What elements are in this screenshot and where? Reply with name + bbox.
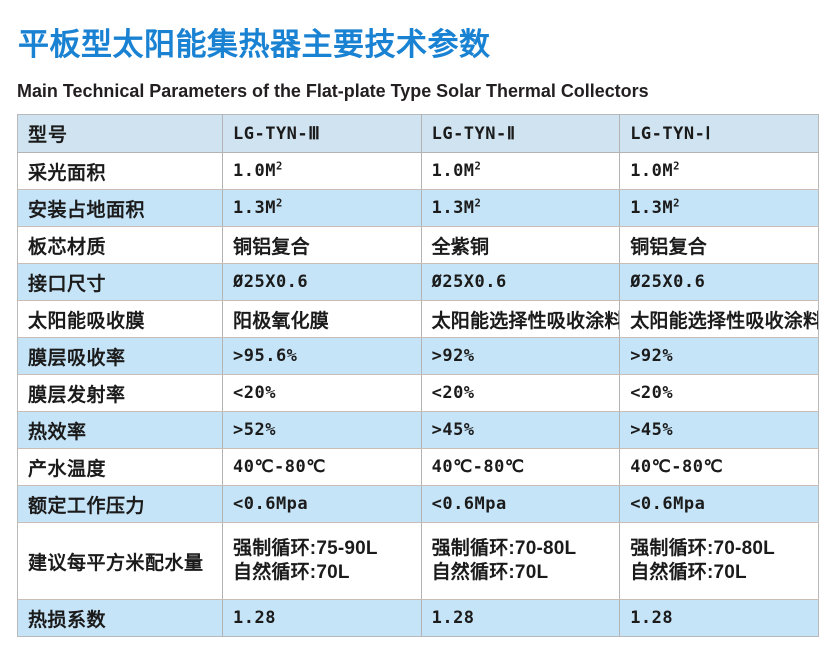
spec-table-container: 型号 LG-TYN-Ⅲ LG-TYN-Ⅱ LG-TYN-Ⅰ 采光面积 1.0M2… (17, 114, 818, 637)
superscript-unit: 2 (673, 197, 680, 209)
cell-value: 1.0M2 (620, 153, 819, 190)
cell-value: 40℃-80℃ (223, 449, 422, 486)
row-label: 安装占地面积 (18, 190, 223, 227)
cell-value: >45% (620, 412, 819, 449)
cell-text-line-2: 自然循环:70L (630, 561, 808, 585)
table-row: 接口尺寸 Ø25X0.6 Ø25X0.6 Ø25X0.6 (18, 264, 819, 301)
cell-value: 强制循环:70-80L 自然循环:70L (421, 523, 620, 600)
cell-value: <20% (421, 375, 620, 412)
cell-value: 40℃-80℃ (421, 449, 620, 486)
cell-value: 强制循环:75-90L 自然循环:70L (223, 523, 422, 600)
cell-text-line-2: 自然循环:70L (432, 561, 610, 585)
cell-value: >45% (421, 412, 620, 449)
cell-value: <20% (620, 375, 819, 412)
cell-value: Ø25X0.6 (223, 264, 422, 301)
cell-text: 1.3M (233, 198, 276, 218)
table-row: 太阳能吸收膜 阳极氧化膜 太阳能选择性吸收涂料 太阳能选择性吸收涂料 (18, 301, 819, 338)
header-cell-model-1: LG-TYN-Ⅰ (620, 115, 819, 153)
cell-text: 1.3M (432, 198, 475, 218)
cell-value: 铜铝复合 (223, 227, 422, 264)
cell-text-line-1: 强制循环:70-80L (630, 537, 808, 561)
superscript-unit: 2 (475, 197, 482, 209)
row-label: 板芯材质 (18, 227, 223, 264)
table-row: 板芯材质 铜铝复合 全紫铜 铜铝复合 (18, 227, 819, 264)
table-row: 产水温度 40℃-80℃ 40℃-80℃ 40℃-80℃ (18, 449, 819, 486)
cell-value: 40℃-80℃ (620, 449, 819, 486)
cell-text-line-1: 强制循环:75-90L (233, 537, 411, 561)
table-row: 热效率 >52% >45% >45% (18, 412, 819, 449)
cell-value: <0.6Mpa (223, 486, 422, 523)
table-row: 安装占地面积 1.3M2 1.3M2 1.3M2 (18, 190, 819, 227)
cell-value: 太阳能选择性吸收涂料 (421, 301, 620, 338)
cell-text: 1.3M (630, 198, 673, 218)
cell-value: 太阳能选择性吸收涂料 (620, 301, 819, 338)
table-row: 膜层吸收率 >95.6% >92% >92% (18, 338, 819, 375)
cell-value: 1.0M2 (223, 153, 422, 190)
cell-value: Ø25X0.6 (421, 264, 620, 301)
cell-value: 全紫铜 (421, 227, 620, 264)
superscript-unit: 2 (673, 160, 680, 172)
cell-value: 1.28 (223, 600, 422, 637)
cell-value: 阳极氧化膜 (223, 301, 422, 338)
cell-value: <20% (223, 375, 422, 412)
header-cell-param: 型号 (18, 115, 223, 153)
row-label: 膜层吸收率 (18, 338, 223, 375)
header-cell-model-3: LG-TYN-Ⅲ (223, 115, 422, 153)
cell-value: 强制循环:70-80L 自然循环:70L (620, 523, 819, 600)
cell-value: 铜铝复合 (620, 227, 819, 264)
cell-value: 1.3M2 (620, 190, 819, 227)
cell-text: 1.0M (630, 161, 673, 181)
cell-value: >52% (223, 412, 422, 449)
cell-text: 1.0M (432, 161, 475, 181)
table-header-row: 型号 LG-TYN-Ⅲ LG-TYN-Ⅱ LG-TYN-Ⅰ (18, 115, 819, 153)
cell-text-line-2: 自然循环:70L (233, 561, 411, 585)
row-label: 接口尺寸 (18, 264, 223, 301)
row-label: 采光面积 (18, 153, 223, 190)
row-label: 产水温度 (18, 449, 223, 486)
cell-text-line-1: 强制循环:70-80L (432, 537, 610, 561)
cell-value: 1.28 (620, 600, 819, 637)
cell-value: <0.6Mpa (620, 486, 819, 523)
cell-value: 1.3M2 (223, 190, 422, 227)
page-title-chinese: 平板型太阳能集热器主要技术参数 (18, 26, 491, 63)
cell-text: 1.0M (233, 161, 276, 181)
table-row: 采光面积 1.0M2 1.0M2 1.0M2 (18, 153, 819, 190)
cell-value: 1.0M2 (421, 153, 620, 190)
page-title-english: Main Technical Parameters of the Flat-pl… (17, 80, 649, 102)
row-label: 热损系数 (18, 600, 223, 637)
header-cell-model-2: LG-TYN-Ⅱ (421, 115, 620, 153)
cell-value: 1.28 (421, 600, 620, 637)
row-label: 建议每平方米配水量 (18, 523, 223, 600)
superscript-unit: 2 (276, 197, 283, 209)
cell-value: >92% (421, 338, 620, 375)
cell-value: <0.6Mpa (421, 486, 620, 523)
cell-value: >95.6% (223, 338, 422, 375)
row-label: 太阳能吸收膜 (18, 301, 223, 338)
cell-value: >92% (620, 338, 819, 375)
row-label: 热效率 (18, 412, 223, 449)
table-row: 膜层发射率 <20% <20% <20% (18, 375, 819, 412)
cell-value: 1.3M2 (421, 190, 620, 227)
table-row: 热损系数 1.28 1.28 1.28 (18, 600, 819, 637)
document-page: 平板型太阳能集热器主要技术参数 Main Technical Parameter… (0, 0, 832, 652)
table-row: 额定工作压力 <0.6Mpa <0.6Mpa <0.6Mpa (18, 486, 819, 523)
superscript-unit: 2 (475, 160, 482, 172)
superscript-unit: 2 (276, 160, 283, 172)
table-row: 建议每平方米配水量 强制循环:75-90L 自然循环:70L 强制循环:70-8… (18, 523, 819, 600)
technical-parameters-table: 型号 LG-TYN-Ⅲ LG-TYN-Ⅱ LG-TYN-Ⅰ 采光面积 1.0M2… (17, 114, 819, 637)
row-label: 额定工作压力 (18, 486, 223, 523)
cell-value: Ø25X0.6 (620, 264, 819, 301)
row-label: 膜层发射率 (18, 375, 223, 412)
